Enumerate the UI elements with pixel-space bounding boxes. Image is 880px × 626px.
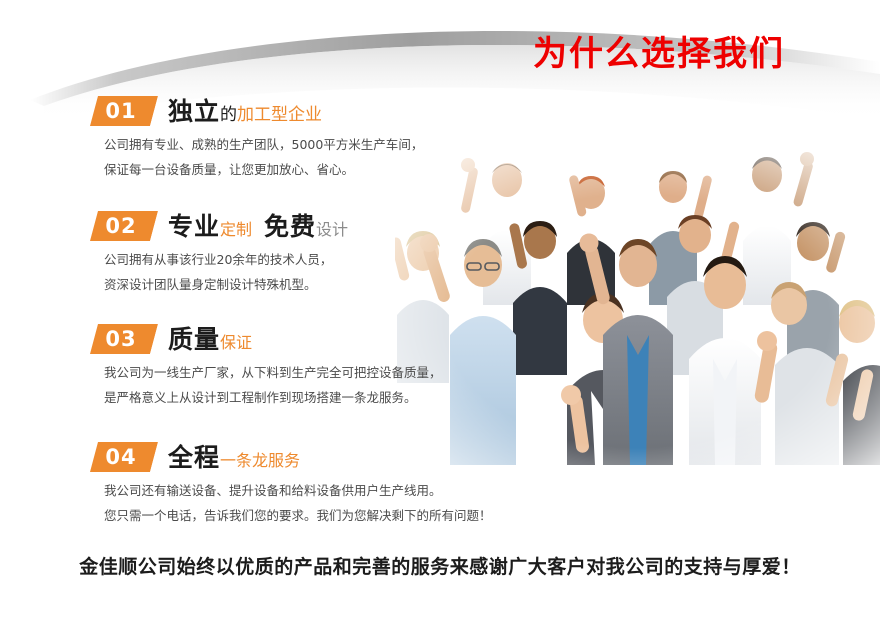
title-part-main: 独立 xyxy=(168,97,220,126)
title-part-accent: 保证 xyxy=(220,333,252,352)
title-part-main: 专业 xyxy=(168,212,220,241)
feature-heading: 03 质量保证 xyxy=(90,322,442,356)
feature-item-04: 04 全程一条龙服务 我公司还有输送设备、提升设备和给料设备供用户生产线用。 您… xyxy=(90,440,492,532)
body-line: 我公司还有输送设备、提升设备和给料设备供用户生产线用。 xyxy=(104,481,492,500)
body-line: 是严格意义上从设计到工程制作到现场搭建一条龙服务。 xyxy=(104,388,442,407)
title-part-particle: 的 xyxy=(220,105,237,125)
page-title: 为什么选择我们 xyxy=(533,26,785,75)
title-part-muted: 设计 xyxy=(316,220,348,239)
feature-body: 我公司为一线生产厂家，从下料到生产完全可把控设备质量， 是严格意义上从设计到工程… xyxy=(104,363,442,408)
feature-heading: 02 专业定制免费设计 xyxy=(90,209,348,243)
number-badge: 04 xyxy=(90,442,158,472)
number-label: 03 xyxy=(90,324,152,354)
feature-body: 公司拥有专业、成熟的生产团队，5000平方米生产车间， 保证每一台设备质量，让您… xyxy=(104,135,423,180)
title-part-accent: 一条龙服务 xyxy=(220,451,300,470)
body-line: 资深设计团队量身定制设计特殊机型。 xyxy=(104,275,348,294)
body-line: 您只需一个电话，告诉我们您的要求。我们为您解决剩下的所有问题！ xyxy=(104,506,492,525)
body-line: 我公司为一线生产厂家，从下料到生产完全可把控设备质量， xyxy=(104,363,442,382)
feature-heading: 01 独立的加工型企业 xyxy=(90,94,423,128)
feature-heading: 04 全程一条龙服务 xyxy=(90,440,492,474)
number-badge: 03 xyxy=(90,324,158,354)
feature-title: 全程一条龙服务 xyxy=(168,445,300,470)
feature-item-03: 03 质量保证 我公司为一线生产厂家，从下料到生产完全可把控设备质量， 是严格意… xyxy=(90,322,442,414)
number-badge: 02 xyxy=(90,211,158,241)
feature-body: 我公司还有输送设备、提升设备和给料设备供用户生产线用。 您只需一个电话，告诉我们… xyxy=(104,481,492,526)
feature-item-02: 02 专业定制免费设计 公司拥有从事该行业20余年的技术人员， 资深设计团队量身… xyxy=(90,209,348,301)
body-line: 保证每一台设备质量，让您更加放心、省心。 xyxy=(104,160,423,179)
feature-title: 独立的加工型企业 xyxy=(168,99,322,124)
title-part-accent: 加工型企业 xyxy=(237,105,322,125)
body-line: 公司拥有专业、成熟的生产团队，5000平方米生产车间， xyxy=(104,135,423,154)
footer-tagline: 金佳顺公司始终以优质的产品和完善的服务来感谢广大客户对我公司的支持与厚爱！ xyxy=(0,552,880,579)
title-part-main: 质量 xyxy=(168,325,220,354)
number-label: 01 xyxy=(90,96,152,126)
feature-title: 质量保证 xyxy=(168,327,252,352)
number-badge: 01 xyxy=(90,96,158,126)
feature-title: 专业定制免费设计 xyxy=(168,214,348,239)
team-thumbs-up-photo xyxy=(395,145,880,465)
title-part-main-2: 免费 xyxy=(264,212,316,241)
feature-body: 公司拥有从事该行业20余年的技术人员， 资深设计团队量身定制设计特殊机型。 xyxy=(104,250,348,295)
number-label: 04 xyxy=(90,442,152,472)
promo-banner: 为什么选择我们 xyxy=(0,0,880,626)
body-line: 公司拥有从事该行业20余年的技术人员， xyxy=(104,250,348,269)
title-part-main: 全程 xyxy=(168,443,220,472)
number-label: 02 xyxy=(90,211,152,241)
feature-item-01: 01 独立的加工型企业 公司拥有专业、成熟的生产团队，5000平方米生产车间， … xyxy=(90,94,423,186)
title-part-accent: 定制 xyxy=(220,220,252,239)
